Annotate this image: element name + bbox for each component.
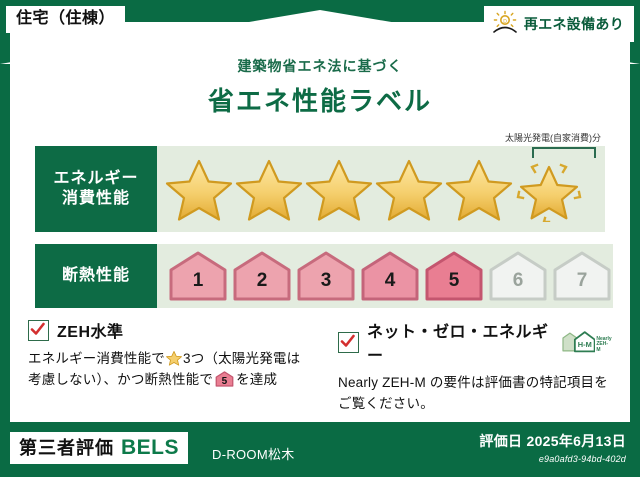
energy-performance-row: エネルギー 消費性能 太陽光発電(自家消費)分 xyxy=(35,146,605,232)
insulation-level-badge: 6 xyxy=(487,250,549,302)
solar-note-label: 太陽光発電(自家消費)分 xyxy=(505,131,601,144)
bels-en-label: BELS xyxy=(121,437,179,458)
insulation-level-number: 1 xyxy=(167,270,229,292)
insulation-performance-label-box: 断熱性能 xyxy=(35,244,157,308)
evaluation-info: 評価日 2025年6月13日 e9a0afd3-94bd-402d xyxy=(479,431,626,464)
title-block: 建築物省エネ法に基づく 省エネ性能ラベル xyxy=(10,56,630,118)
zeh-m-caption-line2: ZEH-M xyxy=(596,341,608,353)
inline-star-icon xyxy=(166,350,182,366)
solar-bracket xyxy=(532,147,596,158)
svg-text:D: D xyxy=(503,19,507,25)
inline-insulation-badge: 5 xyxy=(215,371,234,387)
insulation-level-badge: 4 xyxy=(359,250,421,302)
insulation-levels-area: 1 2 3 4 xyxy=(157,244,613,308)
insulation-level-number: 3 xyxy=(295,270,357,292)
building-type-tag: 住宅（住棟） xyxy=(6,6,125,33)
building-name: D-ROOM松木 xyxy=(212,444,295,463)
energy-stars-area: 太陽光発電(自家消費)分 xyxy=(157,146,605,232)
zeh-m-logo: H-M Nearly ZEH-M xyxy=(562,331,612,353)
insulation-level-number: 2 xyxy=(231,270,293,292)
zeh-desc-part4: を達成 xyxy=(236,372,277,387)
check-icon xyxy=(340,334,355,349)
net-zero-energy-title: ネット・ゼロ・エネルギー xyxy=(367,318,550,366)
energy-performance-label-box: エネルギー 消費性能 xyxy=(35,146,157,232)
energy-performance-label: 住宅（住棟） D 再エネ設備あり xyxy=(0,0,640,477)
page-title: 省エネ性能ラベル xyxy=(10,81,630,118)
insulation-performance-row: 断熱性能 1 2 3 xyxy=(35,244,605,308)
star-icon xyxy=(305,156,373,222)
zeh-standard-description: エネルギー消費性能で3つ（太陽光発電は考慮しない）、かつ断熱性能で5を達成 xyxy=(28,349,302,391)
insulation-level-number: 5 xyxy=(423,270,485,292)
zeh-standard-block: ZEH水準 エネルギー消費性能で3つ（太陽光発電は考慮しない）、かつ断熱性能で5… xyxy=(10,318,320,418)
energy-label-line1: エネルギー xyxy=(53,169,138,189)
evaluation-id: e9a0afd3-94bd-402d xyxy=(479,454,626,464)
star-icon xyxy=(165,156,233,222)
label-card: 建築物省エネ法に基づく 省エネ性能ラベル エネルギー 消費性能 太陽光発電(自家… xyxy=(10,22,630,422)
zeh-standard-checkbox xyxy=(28,320,49,341)
star-icon xyxy=(375,156,443,222)
label-subtitle: 建築物省エネ法に基づく xyxy=(10,56,630,76)
bels-badge: 第三者評価 BELS xyxy=(10,432,188,464)
energy-label-line2: 消費性能 xyxy=(62,189,130,209)
insulation-level-badge: 2 xyxy=(231,250,293,302)
zeh-m-logo-caption: Nearly ZEH-M xyxy=(596,337,612,354)
insulation-level-badge: 1 xyxy=(167,250,229,302)
insulation-level-number: 6 xyxy=(487,270,549,292)
sun-icon: D xyxy=(492,10,518,38)
insulation-level-badge: 7 xyxy=(551,250,613,302)
zeh-desc-part1: エネルギー消費性能で xyxy=(28,351,165,366)
star-rating xyxy=(157,156,583,222)
inline-badge-number: 5 xyxy=(215,374,234,390)
star-icon xyxy=(235,156,303,222)
zeh-desc-part2: 3つ（太陽光発電 xyxy=(183,351,287,366)
renewable-tag-label: 再エネ設備あり xyxy=(524,17,624,31)
zeh-m-house-icon: H-M xyxy=(562,331,596,353)
bels-jp-label: 第三者評価 xyxy=(19,439,114,457)
insulation-level-scale: 1 2 3 4 xyxy=(157,250,613,302)
net-zero-energy-block: ネット・ゼロ・エネルギー H-M Nearly ZEH-M xyxy=(320,318,630,418)
renewable-equipment-tag: D 再エネ設備あり xyxy=(484,6,634,42)
star-icon xyxy=(445,156,513,222)
net-zero-energy-description: Nearly ZEH-M の要件は評価書の特記項目をご覧ください。 xyxy=(338,373,612,415)
insulation-level-number: 4 xyxy=(359,270,421,292)
net-zero-energy-checkbox xyxy=(338,332,359,353)
svg-text:H-M: H-M xyxy=(577,340,591,349)
solar-star-icon xyxy=(515,156,583,222)
criteria-section: ZEH水準 エネルギー消費性能で3つ（太陽光発電は考慮しない）、かつ断熱性能で5… xyxy=(10,318,630,418)
footer-band: 第三者評価 BELS D-ROOM松木 評価日 2025年6月13日 e9a0a… xyxy=(0,422,640,477)
insulation-level-badge: 3 xyxy=(295,250,357,302)
evaluation-date: 評価日 2025年6月13日 xyxy=(479,431,626,451)
insulation-level-badge: 5 xyxy=(423,250,485,302)
insulation-label: 断熱性能 xyxy=(62,266,130,286)
insulation-level-number: 7 xyxy=(551,270,613,292)
zeh-standard-title: ZEH水準 xyxy=(57,318,124,342)
check-icon xyxy=(30,322,45,337)
